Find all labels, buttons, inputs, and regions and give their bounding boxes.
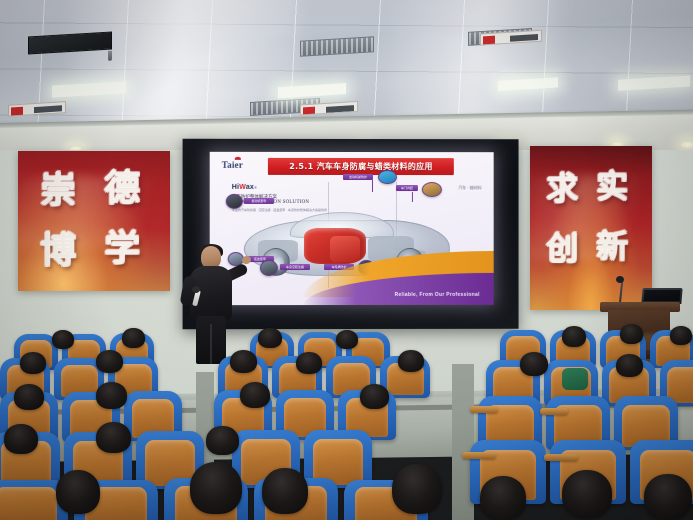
- seat-armrest: [470, 406, 498, 413]
- banner-char: 实: [596, 170, 628, 202]
- audience-head: [52, 330, 74, 349]
- banner-char: 德: [104, 171, 140, 207]
- audience-head: [562, 326, 586, 347]
- slide-title-bar: 2.5.1 汽车车身防腐与蜡类材料的应用: [268, 158, 454, 175]
- slide-tagline: Reliable, From Our Professional: [395, 292, 480, 298]
- audience-head: [262, 468, 308, 514]
- motto-banner-left: 崇 德 博 学: [18, 151, 170, 291]
- audience-head: [616, 354, 643, 377]
- audience-head: [206, 426, 239, 455]
- audience-head: [360, 384, 389, 409]
- banner-char: 崇: [40, 173, 76, 209]
- audience-head: [296, 352, 322, 374]
- callout-tag: 车身空腔注蜡: [280, 264, 310, 270]
- seat-armrest: [462, 452, 496, 459]
- audience-head: [96, 350, 123, 373]
- audience-head: [670, 326, 692, 345]
- audience-head: [398, 350, 424, 372]
- sprinkler-icon: [108, 51, 112, 61]
- downlight-icon: [680, 140, 693, 148]
- backpack: [562, 368, 588, 390]
- banner-char: 新: [596, 230, 628, 262]
- audience-head: [644, 474, 692, 520]
- callout-tag: 发动机部件: [244, 198, 274, 204]
- slide-product-brand: HiWax®: [232, 184, 257, 191]
- audience-head: [520, 352, 548, 376]
- microphone-head-icon: [192, 286, 200, 293]
- audience-head: [96, 422, 131, 453]
- audience-head: [56, 470, 100, 514]
- audience-head: [14, 384, 44, 410]
- projected-slide: Taier 2.5.1 汽车车身防腐与蜡类材料的应用 HiWax® 汽车防护整体…: [210, 152, 494, 305]
- audience-head: [392, 464, 442, 514]
- audience-head: [230, 350, 257, 373]
- callout-tag: 车门内腔: [396, 185, 418, 191]
- banner-char: 博: [40, 233, 76, 269]
- audience-head: [96, 382, 127, 409]
- slide-corner-note: 汽车 · 蜡材料: [458, 185, 481, 191]
- audience-head: [190, 462, 242, 514]
- motto-banner-right: 求 实 创 新: [530, 146, 652, 310]
- audience-head: [4, 424, 38, 454]
- banner-char: 求: [546, 172, 578, 204]
- audience-head: [562, 470, 612, 518]
- audience-head: [240, 382, 270, 408]
- lecture-hall-photo: 崇 德 博 学 求 实 创 新 Taier 2.5.1 汽车车身防腐与蜡类材料的…: [0, 0, 693, 520]
- seated-audience: [0, 330, 693, 520]
- audience-head: [480, 476, 526, 520]
- slide-brand-logo: Taier: [222, 160, 243, 170]
- audience-head: [258, 328, 282, 348]
- audience-head: [122, 328, 145, 348]
- slide-title: 2.5.1 汽车车身防腐与蜡类材料的应用: [289, 161, 433, 172]
- microphone-head-icon: [616, 276, 624, 283]
- seat-armrest: [544, 454, 578, 461]
- audience-head: [336, 330, 358, 349]
- banner-char: 创: [546, 232, 578, 264]
- seat-armrest: [540, 408, 568, 415]
- audience-head: [620, 324, 643, 344]
- audience-head: [20, 352, 46, 374]
- callout-tag: 发动机舱防护: [343, 174, 373, 180]
- banner-char: 学: [104, 231, 140, 267]
